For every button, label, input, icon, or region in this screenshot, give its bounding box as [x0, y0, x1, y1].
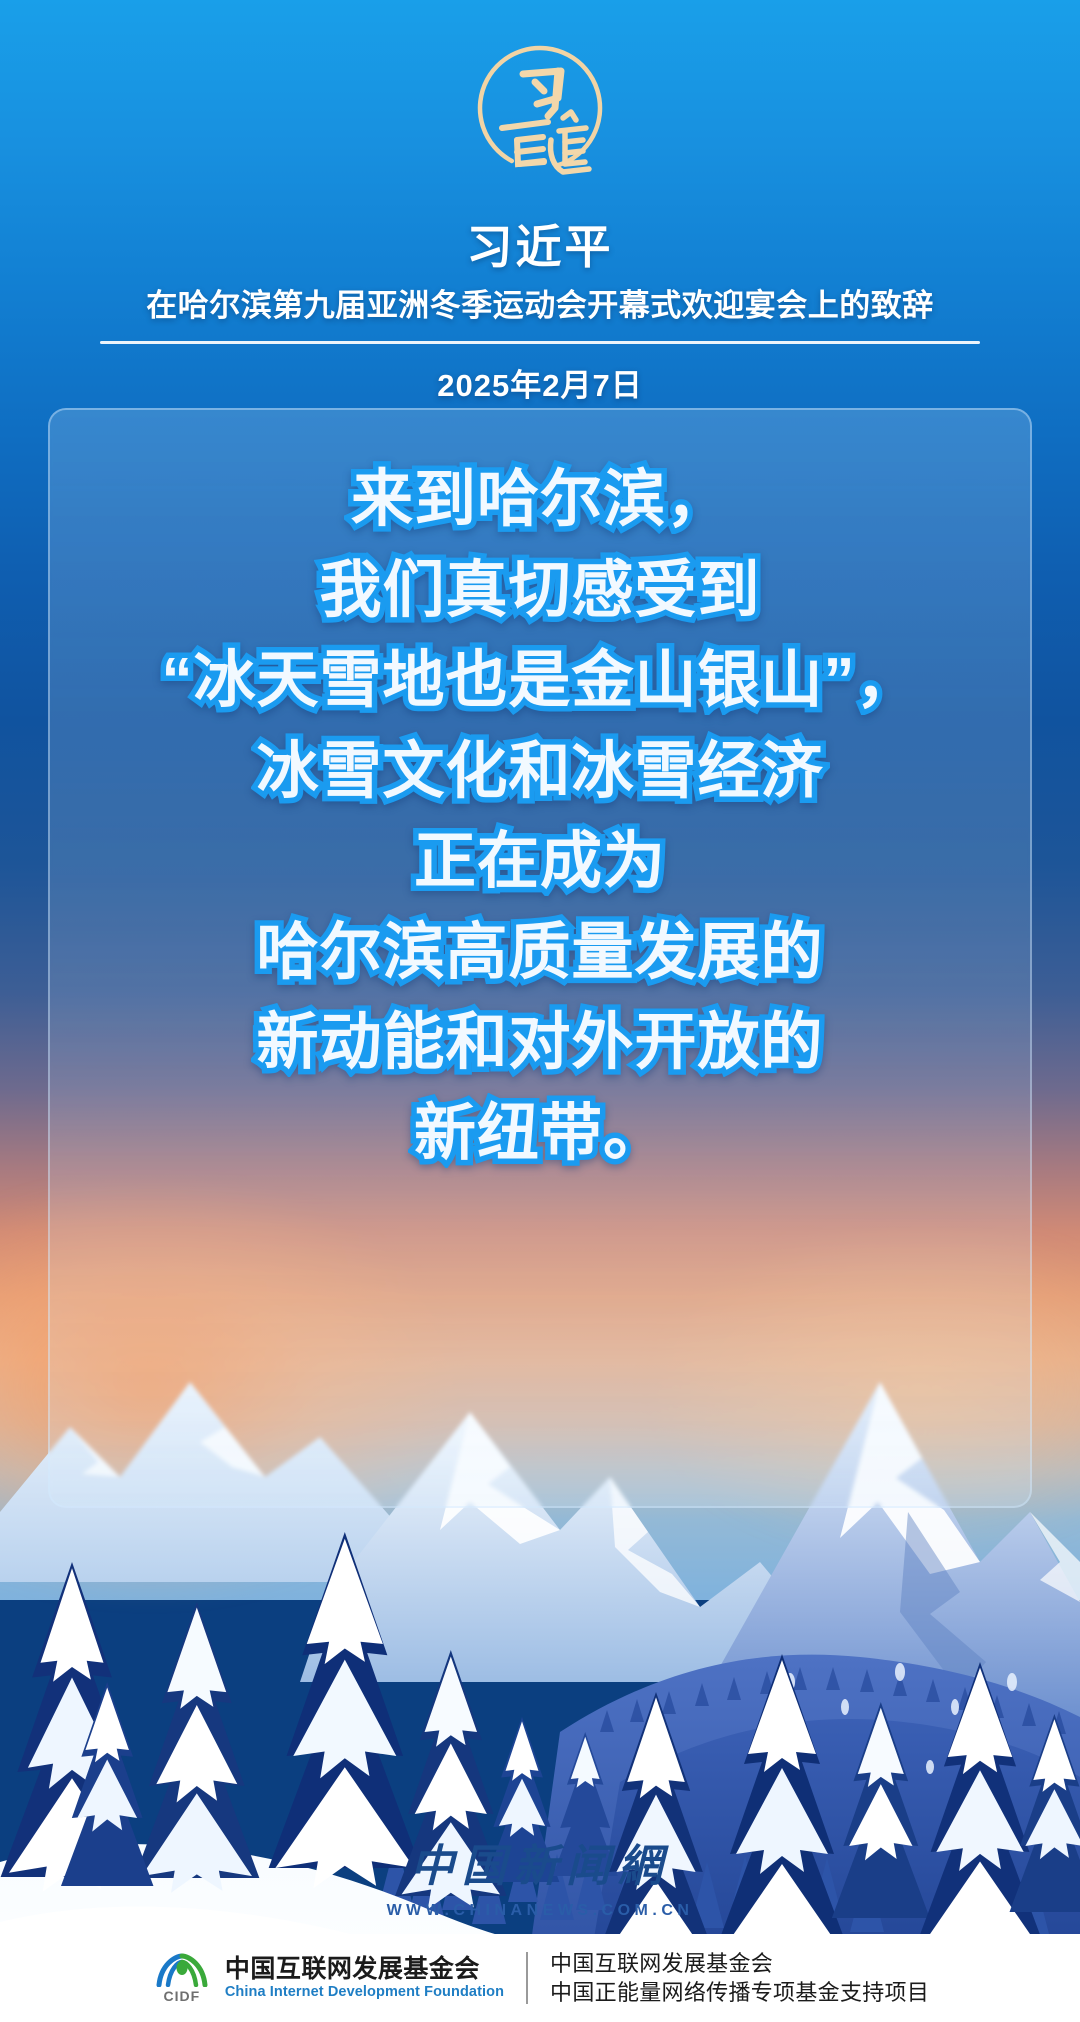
- fund-support-block: 中国互联网发展基金会 中国正能量网络传播专项基金支持项目: [550, 1949, 929, 2007]
- footer-bar: CIDF 中国互联网发展基金会 China Internet Developme…: [0, 1934, 1080, 2022]
- header-divider: [100, 341, 980, 344]
- quote-card-panel: [48, 408, 1032, 1508]
- cidf-name-block: 中国互联网发展基金会 China Internet Development Fo…: [225, 1956, 504, 2000]
- publisher-branding: 中国新闻網 WWW.CHINANEWS.COM.CN: [0, 1830, 1080, 1920]
- publisher-name: 中国新闻網: [0, 1830, 1080, 1894]
- speech-date: 2025年2月7日: [0, 360, 1080, 405]
- cidf-abbreviation: CIDF: [151, 1988, 213, 2004]
- poster-header: 习近平 在哈尔滨第九届亚洲冬季运动会开幕式欢迎宴会上的致辞 2025年2月7日: [0, 222, 1080, 405]
- cidf-arcs-icon: [153, 1953, 211, 1987]
- footer-divider: [526, 1952, 528, 2004]
- xi-yan-dao-seal-logo: [445, 36, 635, 196]
- cidf-name-english: China Internet Development Foundation: [225, 1985, 504, 2000]
- fund-line: 中国互联网发展基金会: [550, 1949, 929, 1978]
- fund-line: 中国正能量网络传播专项基金支持项目: [550, 1978, 929, 2007]
- cidf-logo: CIDF: [151, 1953, 213, 2004]
- cidf-logo-block: CIDF 中国互联网发展基金会 China Internet Developme…: [151, 1953, 504, 2004]
- speaker-name: 习近平: [0, 222, 1080, 273]
- cidf-name-chinese: 中国互联网发展基金会: [225, 1956, 504, 1982]
- publisher-url: WWW.CHINANEWS.COM.CN: [0, 1902, 1080, 1920]
- occasion-title: 在哈尔滨第九届亚洲冬季运动会开幕式欢迎宴会上的致辞: [0, 287, 1080, 326]
- poster-canvas: 习近平 在哈尔滨第九届亚洲冬季运动会开幕式欢迎宴会上的致辞 2025年2月7日 …: [0, 0, 1080, 2022]
